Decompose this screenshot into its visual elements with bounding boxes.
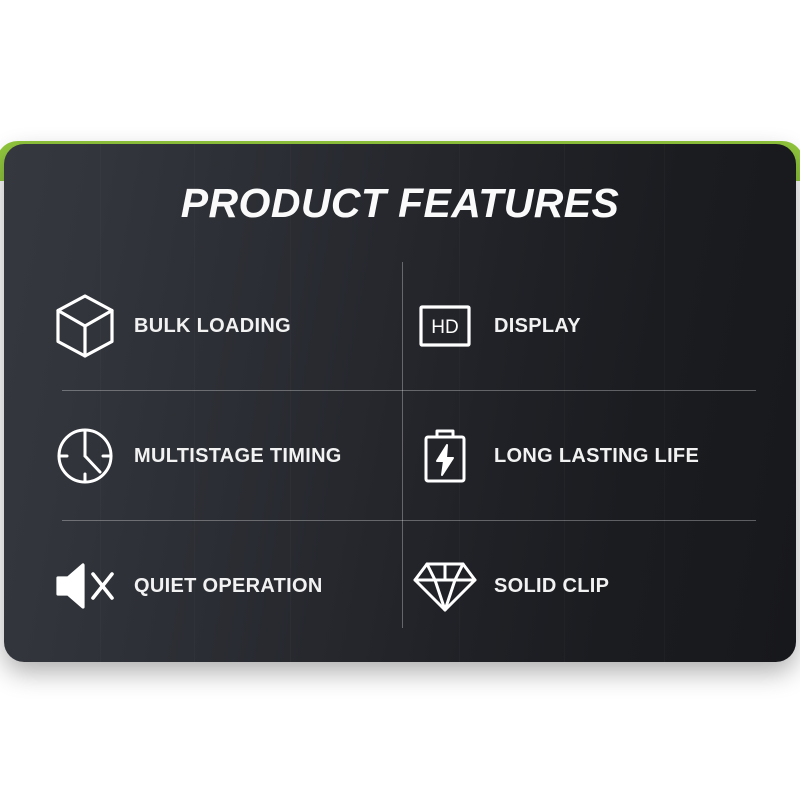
feature-label: QUIET OPERATION [134, 575, 323, 598]
feature-item-display[interactable]: HD DISPLAY [410, 266, 750, 386]
feature-label: LONG LASTING LIFE [494, 445, 699, 468]
feature-item-long-lasting-life[interactable]: LONG LASTING LIFE [410, 396, 750, 516]
page-title: PRODUCT FEATURES [4, 180, 796, 227]
speaker-mute-icon [50, 551, 120, 621]
horizontal-divider [62, 520, 756, 521]
horizontal-divider [62, 390, 756, 391]
feature-label: BULK LOADING [134, 315, 291, 338]
cube-icon [50, 291, 120, 361]
features-grid: BULK LOADING HD DISPLAY [50, 266, 750, 626]
svg-text:HD: HD [431, 317, 458, 338]
product-features-card: PRODUCT FEATURES BULK LOADING [4, 144, 796, 662]
feature-item-bulk-loading[interactable]: BULK LOADING [50, 266, 390, 386]
features-row: MULTISTAGE TIMING LONG LASTING LIFE [50, 396, 750, 516]
feature-label: DISPLAY [494, 315, 581, 338]
features-row: BULK LOADING HD DISPLAY [50, 266, 750, 386]
page-canvas: PRODUCT FEATURES BULK LOADING [0, 0, 800, 800]
feature-item-quiet-operation[interactable]: QUIET OPERATION [50, 526, 390, 646]
diamond-icon [410, 551, 480, 621]
feature-item-solid-clip[interactable]: SOLID CLIP [410, 526, 750, 646]
feature-label: SOLID CLIP [494, 575, 609, 598]
feature-label: MULTISTAGE TIMING [134, 445, 342, 468]
clock-icon [50, 421, 120, 491]
feature-item-multistage-timing[interactable]: MULTISTAGE TIMING [50, 396, 390, 516]
battery-bolt-icon [410, 421, 480, 491]
hd-display-icon: HD [410, 291, 480, 361]
features-row: QUIET OPERATION SO [50, 526, 750, 646]
